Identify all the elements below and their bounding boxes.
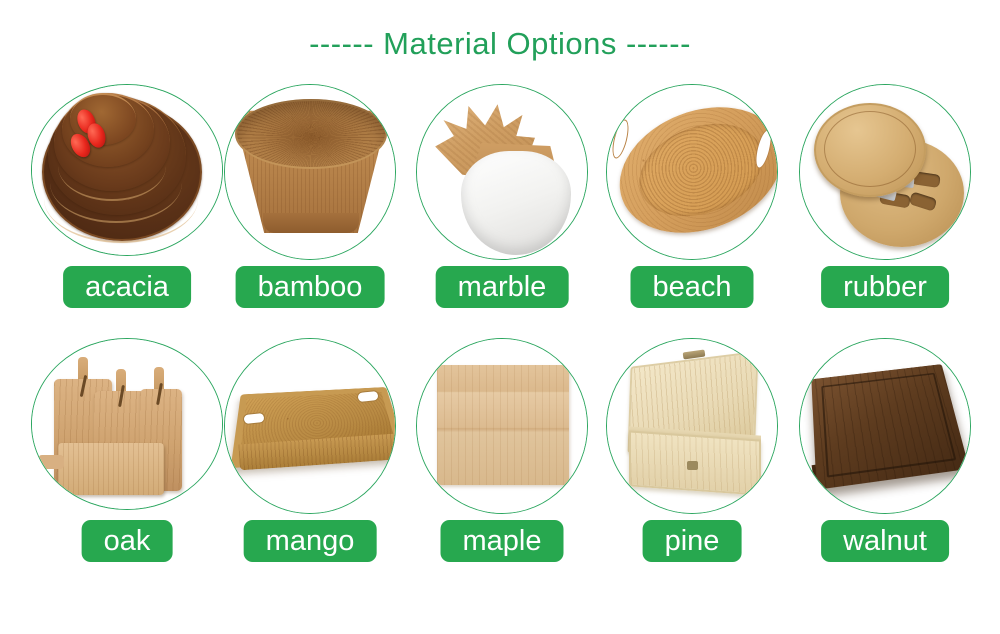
material-row-1: acacia bamboo marble [0,84,1000,314]
image-conical-bamboo-bowl [225,85,395,259]
material-label-beach[interactable]: beach [630,266,753,308]
material-image-frame-rubber[interactable] [799,84,971,260]
material-label-mango[interactable]: mango [244,520,377,562]
image-dark-walnut-serving-board [800,339,970,513]
material-image-frame-mango[interactable] [224,338,396,514]
image-stacked-dark-acacia-wood-plates-with-cherry-tomatoes [32,85,222,255]
material-label-marble[interactable]: marble [436,266,569,308]
image-rectangular-mango-wood-tray [225,339,395,513]
material-label-walnut[interactable]: walnut [821,520,949,562]
material-image-frame-bamboo[interactable] [224,84,396,260]
material-options-page: ------ Material Options ------ acacia [0,0,1000,634]
image-pineapple-shaped-wood-and-marble-board [417,85,587,259]
material-image-frame-acacia[interactable] [31,84,223,256]
image-plain-maple-cutting-board [417,339,587,513]
material-image-frame-pine[interactable] [606,338,778,514]
image-oval-beech-tray-with-two-handles [607,85,777,259]
material-image-frame-marble[interactable] [416,84,588,260]
image-open-pine-wooden-box [607,339,777,513]
material-option-walnut[interactable]: walnut [790,338,980,568]
material-image-frame-oak[interactable] [31,338,223,510]
material-label-rubber[interactable]: rubber [821,266,949,308]
material-image-frame-beach[interactable] [606,84,778,260]
material-option-mango[interactable]: mango [215,338,405,568]
material-image-frame-maple[interactable] [416,338,588,514]
material-label-acacia[interactable]: acacia [63,266,191,308]
material-option-rubber[interactable]: rubber [790,84,980,314]
material-label-oak[interactable]: oak [82,520,173,562]
material-option-oak[interactable]: oak [32,338,222,568]
material-row-2: oak mango maple [0,338,1000,568]
material-option-pine[interactable]: pine [597,338,787,568]
material-option-acacia[interactable]: acacia [32,84,222,314]
material-option-bamboo[interactable]: bamboo [215,84,405,314]
image-oak-cutting-boards-with-handles [32,339,222,509]
material-option-maple[interactable]: maple [407,338,597,568]
material-option-marble[interactable]: marble [407,84,597,314]
material-image-frame-walnut[interactable] [799,338,971,514]
material-label-bamboo[interactable]: bamboo [236,266,385,308]
page-title: ------ Material Options ------ [0,26,1000,62]
material-option-beach[interactable]: beach [597,84,787,314]
image-round-rubber-wood-cheese-board-set-with-knives [800,85,970,259]
material-label-maple[interactable]: maple [441,520,564,562]
material-label-pine[interactable]: pine [643,520,742,562]
